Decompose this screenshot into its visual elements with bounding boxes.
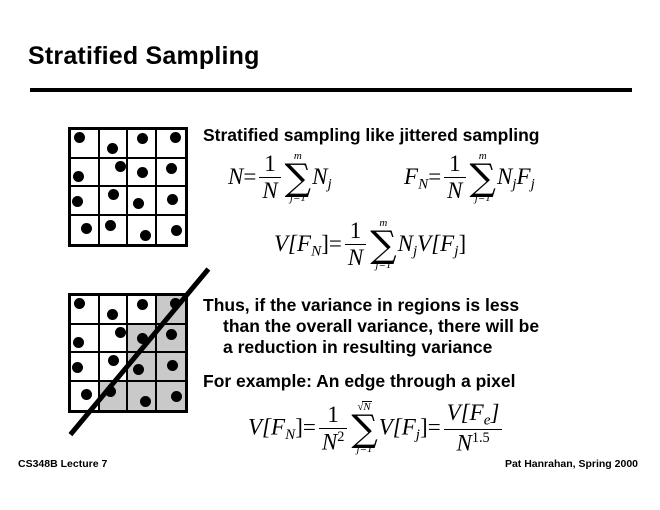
eq4-summation: √N ∑ j=1 [351,401,377,455]
sample-dot [81,389,92,400]
edge-grid-diagram [68,293,188,413]
eq2-lhs: F [404,164,418,189]
eq3-term1: N [398,231,413,256]
eq4-equals: = [303,415,316,440]
eq3-denominator: N [345,245,366,270]
eq4-rhs-numerator-base: V[F [447,400,484,425]
eq2-fraction: 1 N [444,152,465,203]
bullet-for-example: For example: An edge through a pixel [203,371,515,391]
eq3-lhs-close: ] [321,231,329,256]
sample-dot [133,364,144,375]
equation-FN: FN= 1 N m ∑ j=1 NjFj [404,152,535,205]
sigma-icon: ∑ [470,163,496,193]
sigma-icon: ∑ [370,230,396,260]
jittered-grid-diagram [68,127,188,247]
eq4-denominator: N2 [319,429,347,454]
eq4-rhs-numerator: V[Fe] [444,401,503,430]
sample-dot [166,163,177,174]
footer-author-label: Pat Hanrahan, Spring 2000 [505,458,638,470]
eq4-term: V[F [379,415,416,440]
eq4-denominator-exponent: 2 [337,429,344,445]
thus-line-3: a reduction in resulting variance [203,337,653,358]
equation-N: N= 1 N m ∑ j=1 Nj [228,152,332,205]
eq2-equals: = [428,164,441,189]
eq2-lhs-subscript: N [418,175,428,192]
eq2-numerator: 1 [444,152,465,178]
eq4-lhs-close: ] [295,415,303,440]
title-divider [30,88,632,92]
eq4-rhs-denominator: N1.5 [444,430,503,455]
eq4-denominator-base: N [322,429,337,454]
bullet-stratified-like-jittered: Stratified sampling like jittered sampli… [203,125,539,145]
eq1-denominator: N [259,178,280,203]
sample-dot [137,333,148,344]
sample-dot [74,132,85,143]
sample-dot-layer [71,130,185,244]
sample-dot [167,194,178,205]
sample-dot [73,171,84,182]
sample-dot [171,391,182,402]
eq4-rhs-denominator-base: N [456,430,471,455]
eq4-rhs-denominator-exponent: 1.5 [472,430,490,446]
sample-dot [140,230,151,241]
eq2-denominator: N [444,178,465,203]
sample-dot [115,327,126,338]
sample-dot [140,396,151,407]
sample-dot [137,167,148,178]
sample-dot [74,298,85,309]
thus-line-2: than the overall variance, there will be [203,316,653,337]
sample-dot [137,299,148,310]
sample-dot [171,225,182,236]
page-title: Stratified Sampling [28,43,260,71]
eq3-term2-close: ] [458,231,466,256]
eq1-numerator: 1 [259,152,280,178]
sample-dot [108,355,119,366]
sample-dot [115,161,126,172]
eq3-lhs: V[F [274,231,311,256]
sample-dot [72,362,83,373]
eq2-summation: m ∑ j=1 [470,151,496,204]
eq4-rhs-fraction: V[Fe] N1.5 [444,401,503,456]
eq3-equals: = [329,231,342,256]
sample-dot [170,132,181,143]
sample-dot [81,223,92,234]
eq1-lhs: N [228,164,243,189]
sample-dot [137,133,148,144]
equation-variance-FN: V[FN]= 1 N m ∑ j=1 NjV[Fj] [274,219,466,272]
eq4-equals-2: = [428,415,441,440]
eq2-term2-subscript: j [531,175,535,192]
grid-border [68,293,188,413]
sample-dot [107,143,118,154]
sample-dot [166,329,177,340]
sample-dot [167,360,178,371]
sample-dot [133,198,144,209]
eq1-summation: m ∑ j=1 [285,151,311,204]
eq3-term2: V[F [417,231,454,256]
eq3-fraction: 1 N [345,219,366,270]
sample-dot [170,298,181,309]
footer-course-label: CS348B Lecture 7 [18,458,107,470]
eq3-summation: m ∑ j=1 [370,218,396,271]
eq4-numerator: 1 [319,403,347,429]
equation-edge-variance: V[FN]= 1 N2 √N ∑ j=1 V[Fj]= V[Fe] N1.5 [248,402,505,457]
eq4-lhs: V[F [248,415,285,440]
eq2-term2: F [517,164,531,189]
thus-line-1: Thus, if the variance in regions is less [203,295,653,316]
eq4-term-close: ] [420,415,428,440]
eq1-term-subscript: j [327,175,331,192]
eq2-term1: N [497,164,512,189]
eq4-rhs-numerator-close: ] [490,400,499,425]
sample-dot [72,196,83,207]
sample-dot [107,309,118,320]
bullet-thus-variance: Thus, if the variance in regions is less… [203,295,653,358]
sample-dot [108,189,119,200]
eq1-equals: = [243,164,256,189]
sample-dot [73,337,84,348]
sigma-icon: ∑ [285,163,311,193]
sample-dot [105,220,116,231]
sample-dot [105,386,116,397]
grid-border [68,127,188,247]
eq1-term: N [312,164,327,189]
eq4-lhs-subscript: N [285,426,295,443]
eq3-lhs-subscript: N [311,242,321,259]
eq3-numerator: 1 [345,219,366,245]
sample-dot-layer [71,296,185,410]
sigma-icon: ∑ [351,414,377,444]
eq4-fraction: 1 N2 [319,403,347,455]
eq1-fraction: 1 N [259,152,280,203]
